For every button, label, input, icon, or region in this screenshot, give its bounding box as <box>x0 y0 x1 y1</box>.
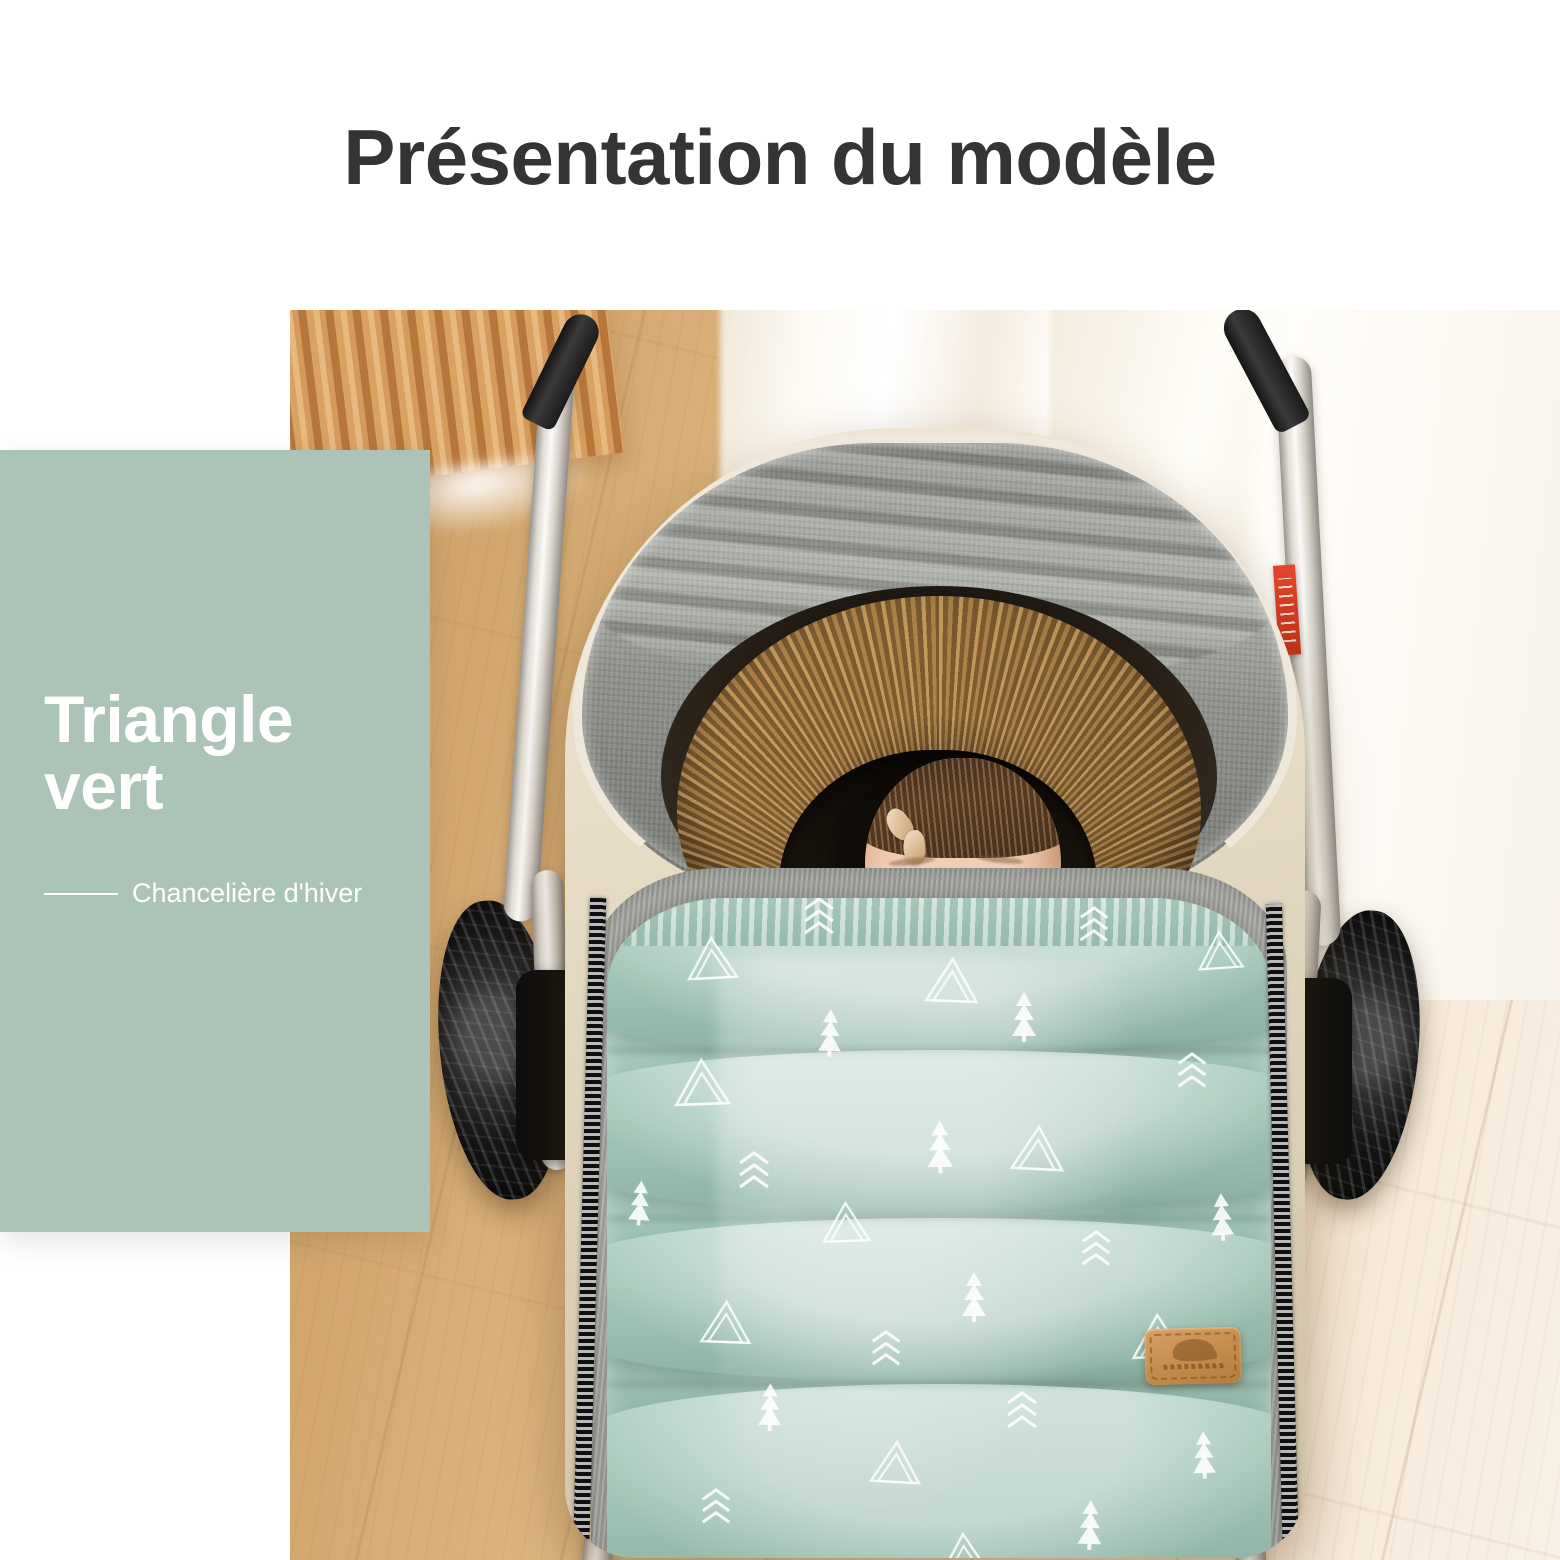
pattern-motif-tri-out <box>923 954 981 1006</box>
pattern-motif-pine <box>959 1270 989 1324</box>
pattern-motif-tri-out <box>671 1055 732 1110</box>
variant-name-line1: Triangle <box>44 686 374 753</box>
pattern-motif-chev <box>1077 905 1110 947</box>
brand-logo-icon <box>1173 1338 1216 1361</box>
variant-info-panel: Triangle vert Chancelière d'hiver <box>0 450 430 1232</box>
pattern-motif-chev <box>1005 1390 1039 1434</box>
pattern-motif-pine <box>755 1381 784 1433</box>
pattern-motif-chev <box>700 1487 732 1529</box>
pattern-motif-pine <box>1206 1191 1237 1244</box>
page-title: Présentation du modèle <box>0 112 1560 203</box>
pattern-motif-pine <box>1074 1497 1106 1552</box>
leather-brand-patch <box>1144 1327 1241 1385</box>
product-photo <box>290 310 1560 1560</box>
pattern-motif-pine <box>924 1118 956 1175</box>
pattern-motif-chev <box>1176 1051 1208 1093</box>
pattern-motif-tri-out <box>820 1198 873 1245</box>
pattern-motif-pine <box>815 1007 845 1059</box>
pattern-motif-tri-out <box>698 1297 754 1347</box>
brand-wordmark <box>1163 1363 1225 1370</box>
variant-name-line2: vert <box>44 753 374 820</box>
pattern-motif-pine <box>1189 1429 1219 1481</box>
stroller-bassinet <box>565 428 1305 1558</box>
pattern-motif-tri-out <box>684 933 740 984</box>
pattern-motif-chev <box>737 1150 771 1194</box>
divider-rule <box>44 893 118 895</box>
pattern-motif-tri-out <box>1008 1121 1067 1174</box>
fabric-pattern <box>607 898 1271 1558</box>
pattern-motif-chev <box>802 898 836 940</box>
pattern-motif-pine <box>1009 990 1039 1044</box>
mint-footmuff <box>607 898 1271 1558</box>
pattern-motif-chev <box>870 1329 902 1371</box>
pattern-motif-tri-out <box>936 1529 992 1558</box>
pattern-motif-tri-out <box>1194 927 1245 973</box>
variant-subtitle-row: Chancelière d'hiver <box>44 878 362 909</box>
pattern-motif-pine <box>625 1178 655 1228</box>
pattern-motif-chev <box>1079 1229 1112 1271</box>
pattern-motif-tri-out <box>868 1437 924 1488</box>
variant-name: Triangle vert <box>44 686 374 821</box>
variant-subtitle: Chancelière d'hiver <box>132 878 362 909</box>
